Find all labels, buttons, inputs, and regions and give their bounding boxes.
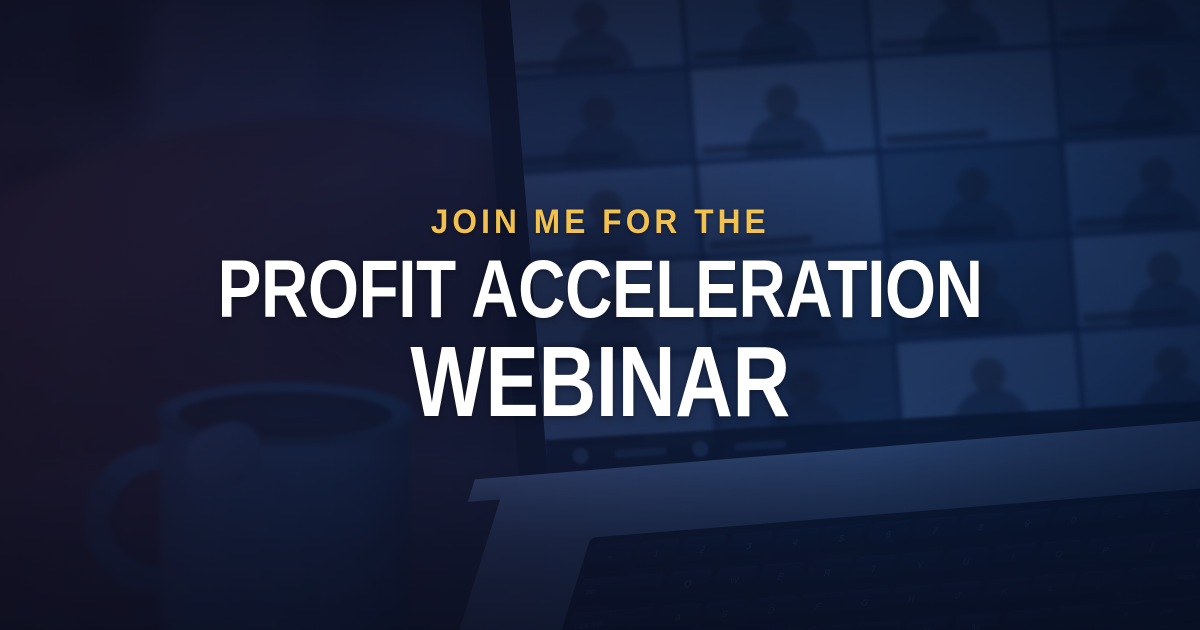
headline-line-1: PROFIT ACCELERATION [218,251,983,330]
banner-text-block: JOIN ME FOR THE PROFIT ACCELERATION WEBI… [0,0,1200,630]
eyebrow-text: JOIN ME FOR THE [431,205,770,239]
headline-line-2: WEBINAR [410,334,789,430]
webinar-promo-banner: ~1234567890-=deletetabQWERTYUIOP[]\caps … [0,0,1200,630]
